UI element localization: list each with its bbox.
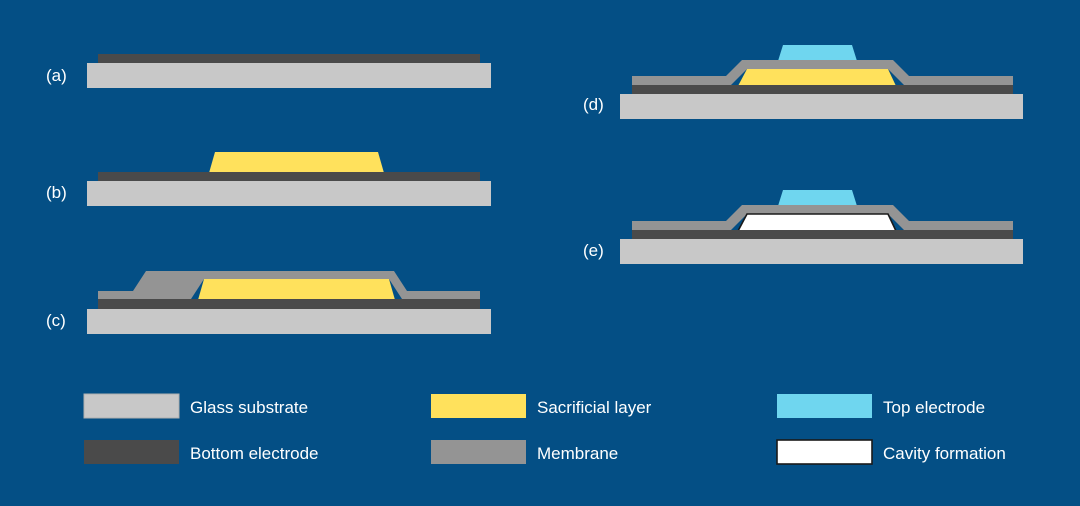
legend-swatch-bottom-electrode — [84, 440, 179, 464]
legend: Glass substrate Bottom electrode Sacrifi… — [84, 394, 1006, 464]
panel-c: (c) — [46, 271, 491, 334]
legend-label-bottom-electrode: Bottom electrode — [190, 444, 319, 463]
legend-item-glass-substrate: Glass substrate — [84, 394, 308, 418]
panel-a-label: (a) — [46, 66, 67, 85]
process-flow-diagram: (a) (b) (c) (d) — [0, 0, 1080, 506]
legend-label-cavity-formation: Cavity formation — [883, 444, 1006, 463]
legend-label-glass-substrate: Glass substrate — [190, 398, 308, 417]
legend-item-top-electrode: Top electrode — [777, 394, 985, 418]
legend-item-bottom-electrode: Bottom electrode — [84, 440, 319, 464]
panel-c-bottom-electrode — [98, 299, 480, 310]
panel-e-glass-substrate — [620, 239, 1023, 264]
legend-swatch-top-electrode — [777, 394, 872, 418]
panel-c-sacrificial-layer — [198, 279, 395, 300]
legend-item-sacrificial-layer: Sacrificial layer — [431, 394, 652, 418]
panel-d-label: (d) — [583, 95, 604, 114]
panel-b-glass-substrate — [87, 181, 491, 206]
panel-d-top-electrode — [778, 45, 857, 61]
panel-b: (b) — [46, 152, 491, 206]
panel-c-label: (c) — [46, 311, 66, 330]
legend-swatch-sacrificial-layer — [431, 394, 526, 418]
panel-d: (d) — [583, 45, 1023, 119]
panel-a-bottom-electrode — [98, 54, 480, 64]
legend-item-cavity-formation: Cavity formation — [777, 440, 1006, 464]
panel-e: (e) — [583, 190, 1023, 264]
panel-a-glass-substrate — [87, 63, 491, 88]
panel-b-label: (b) — [46, 183, 67, 202]
legend-label-membrane: Membrane — [537, 444, 618, 463]
legend-item-membrane: Membrane — [431, 440, 618, 464]
panel-e-label: (e) — [583, 241, 604, 260]
figure-canvas: (a) (b) (c) (d) — [0, 0, 1080, 506]
legend-label-top-electrode: Top electrode — [883, 398, 985, 417]
legend-label-sacrificial-layer: Sacrificial layer — [537, 398, 652, 417]
panel-d-glass-substrate — [620, 94, 1023, 119]
legend-swatch-cavity-formation — [777, 440, 872, 464]
panel-a: (a) — [46, 54, 491, 88]
legend-swatch-glass-substrate — [84, 394, 179, 418]
panel-b-bottom-electrode — [98, 172, 480, 182]
panel-e-top-electrode — [778, 190, 857, 206]
legend-swatch-membrane — [431, 440, 526, 464]
panel-c-glass-substrate — [87, 309, 491, 334]
panel-e-cavity-formation — [738, 214, 896, 231]
panel-b-sacrificial-layer — [209, 152, 384, 173]
panel-d-sacrificial-layer — [738, 69, 896, 86]
